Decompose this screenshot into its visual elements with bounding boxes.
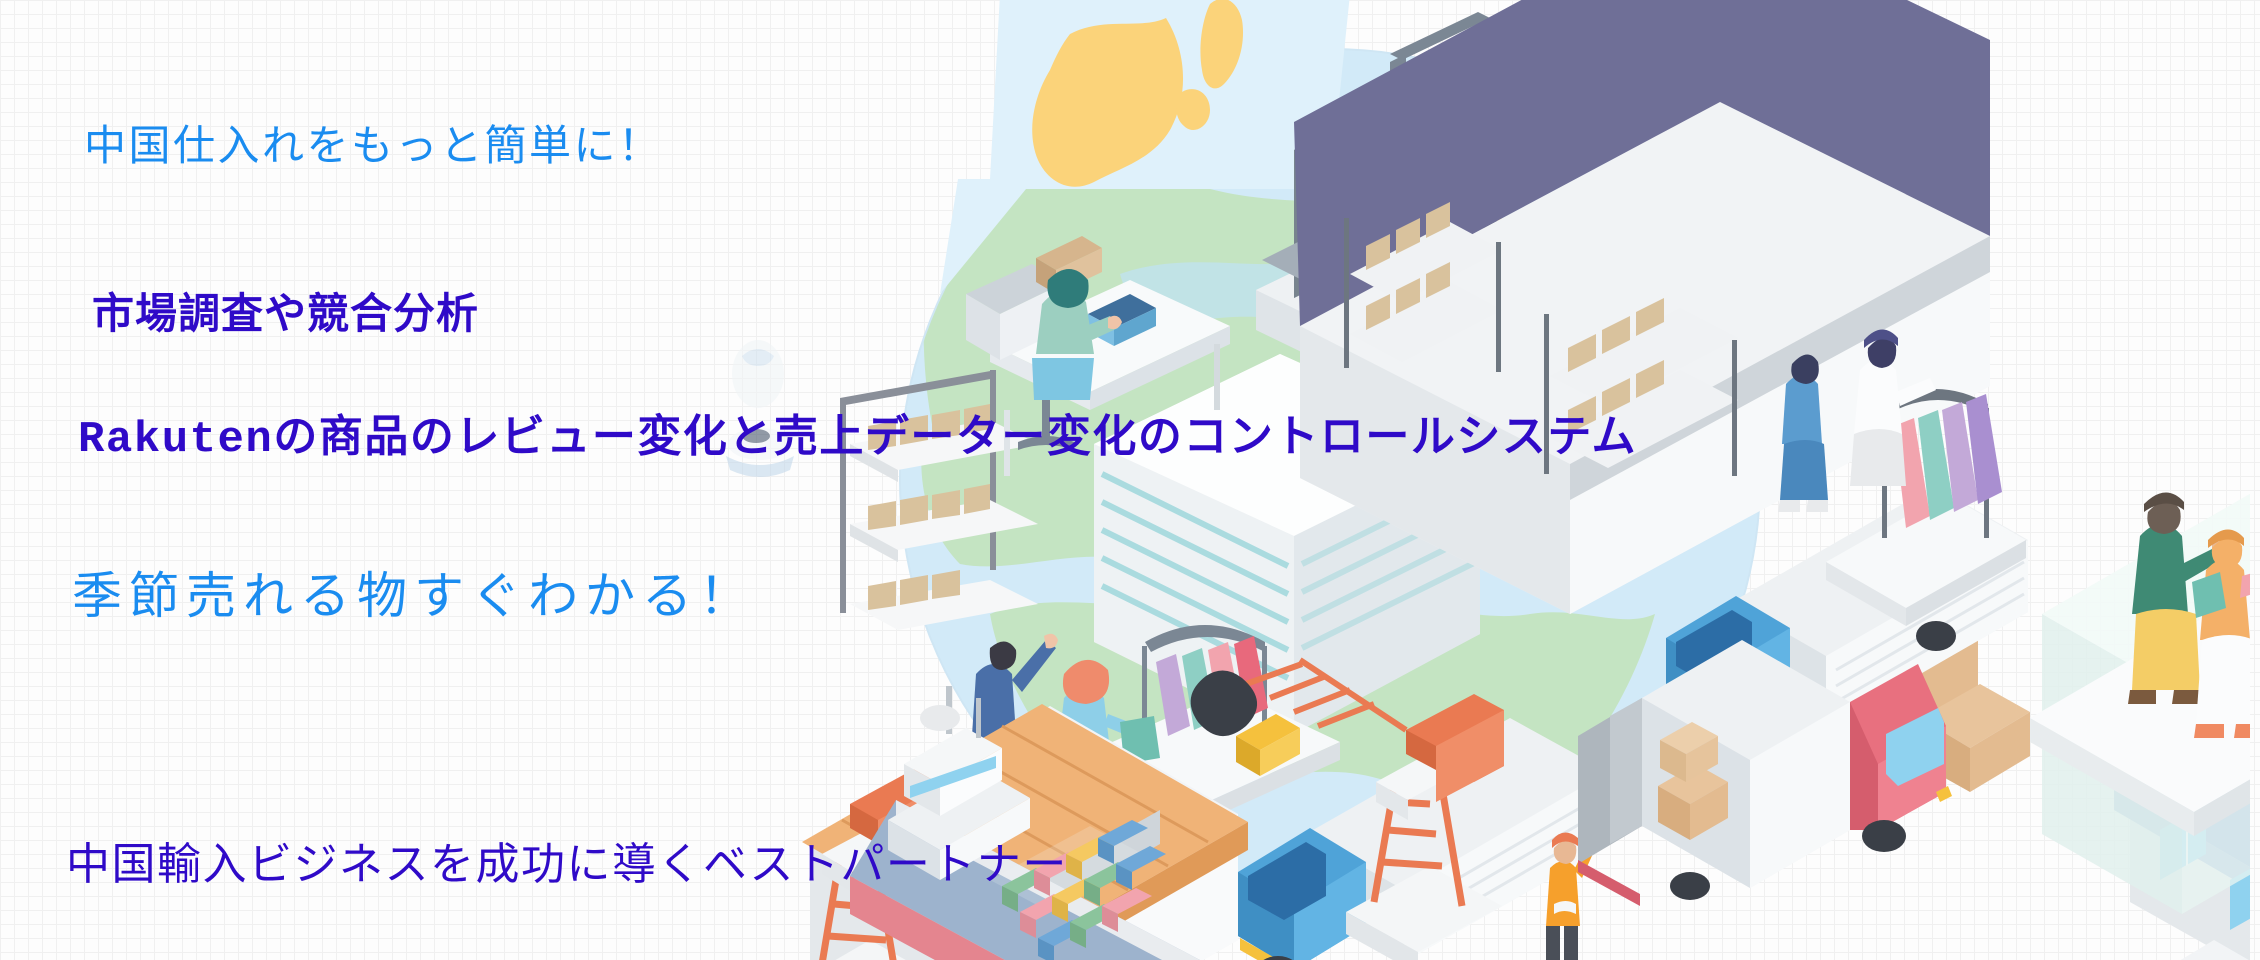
headline-line-1: 中国仕入れをもっと簡単に！ (84, 112, 663, 173)
headline-line-2: 市場調査や競合分析 (92, 280, 479, 341)
isometric-global-logistics-illustration (690, 0, 2250, 960)
headline-line-3: Rakutenの商品のレビュー変化と売上データー変化のコントロールシステム (78, 400, 1637, 465)
headline-line-4: 季節売れる物すぐわかる！ (72, 556, 756, 628)
hero-banner: 中国仕入れをもっと簡単に！ 市場調査や競合分析 Rakutenの商品のレビュー変… (0, 0, 2260, 960)
truck-cargo-boxes (1658, 722, 1728, 840)
headline-line-5: 中国輸入ビジネスを成功に導くベストパートナー (66, 828, 1068, 892)
